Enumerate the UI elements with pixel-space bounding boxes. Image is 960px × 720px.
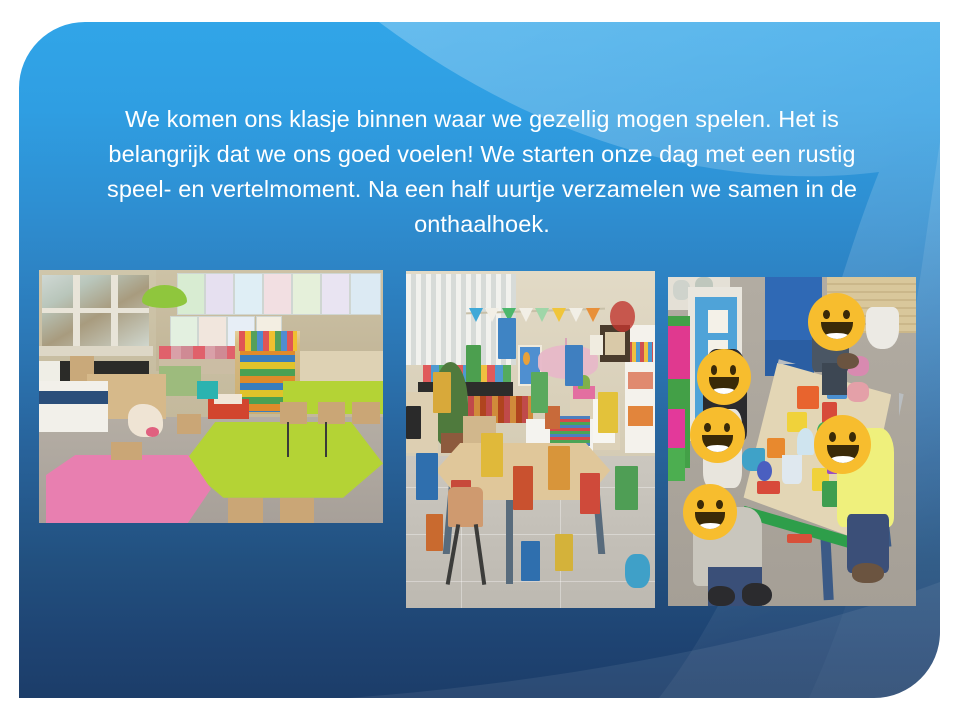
photo-2-canvas xyxy=(406,271,655,608)
smiling-face-emoji xyxy=(697,349,752,405)
smiling-face-emoji xyxy=(808,293,865,351)
slide-stage: We komen ons klasje binnen waar we gezel… xyxy=(0,0,960,720)
smiling-face-emoji xyxy=(814,415,871,474)
slide-title-text: We komen ons klasje binnen waar we gezel… xyxy=(77,102,887,242)
photo-block-table[interactable] xyxy=(406,271,655,608)
photo-3-canvas xyxy=(668,277,916,606)
photo-sand-table-with-children[interactable] xyxy=(668,277,916,606)
photo-1-canvas xyxy=(39,270,383,523)
smiling-face-emoji xyxy=(683,484,738,540)
slide-background: We komen ons klasje binnen waar we gezel… xyxy=(19,22,940,698)
photo-classroom-with-hexagon-tables[interactable] xyxy=(39,270,383,523)
smiling-face-emoji xyxy=(690,407,745,463)
